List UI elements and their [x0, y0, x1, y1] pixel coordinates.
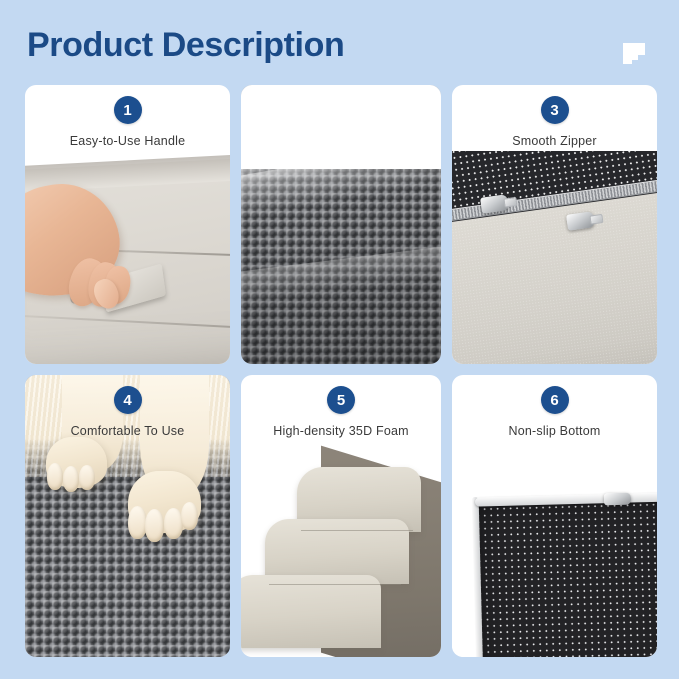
- feature-card-1[interactable]: 1 Easy-to-Use Handle: [25, 85, 230, 364]
- hand-pulling-fabric-handle-photo: [25, 151, 230, 364]
- feature-card-6[interactable]: 6 Non-slip Bottom: [452, 375, 657, 657]
- card-1-number-badge: 1: [114, 96, 142, 124]
- feature-card-2[interactable]: 2 Easy-grip Soft Cover: [241, 85, 441, 364]
- gray-chenille-popcorn-fabric-photo: [241, 85, 441, 364]
- card-6-header: 6 Non-slip Bottom: [452, 375, 657, 438]
- card-3-header: 3 Smooth Zipper: [452, 85, 657, 148]
- dual-silver-zipper-sliders-photo: [452, 151, 657, 364]
- card-3-label: Smooth Zipper: [452, 134, 657, 148]
- stairs-corner-mark-icon: [621, 42, 647, 64]
- card-5-number-badge: 5: [327, 386, 355, 414]
- card-6-number-badge: 6: [541, 386, 569, 414]
- card-5-label: High-density 35D Foam: [241, 424, 441, 438]
- black-dotted-non-slip-base-photo: [452, 441, 657, 657]
- page-title: Product Description: [27, 26, 344, 65]
- card-1-header: 1 Easy-to-Use Handle: [25, 85, 230, 148]
- feature-card-4[interactable]: 4 Comfortable To Use: [25, 375, 230, 657]
- card-5-header: 5 High-density 35D Foam: [241, 375, 441, 438]
- feature-card-3[interactable]: 3 Smooth Zipper: [452, 85, 657, 364]
- card-1-label: Easy-to-Use Handle: [25, 134, 230, 148]
- three-tier-foam-pet-stairs-photo: [241, 441, 441, 657]
- feature-card-grid: 1 Easy-to-Use Handle 2 Easy-grip Soft Co…: [25, 85, 654, 657]
- feature-card-5[interactable]: 5 High-density 35D Foam: [241, 375, 441, 657]
- card-6-label: Non-slip Bottom: [452, 424, 657, 438]
- page-header: Product Description: [0, 0, 679, 84]
- dog-paws-on-gray-chenille-photo: [25, 375, 230, 657]
- card-3-number-badge: 3: [541, 96, 569, 124]
